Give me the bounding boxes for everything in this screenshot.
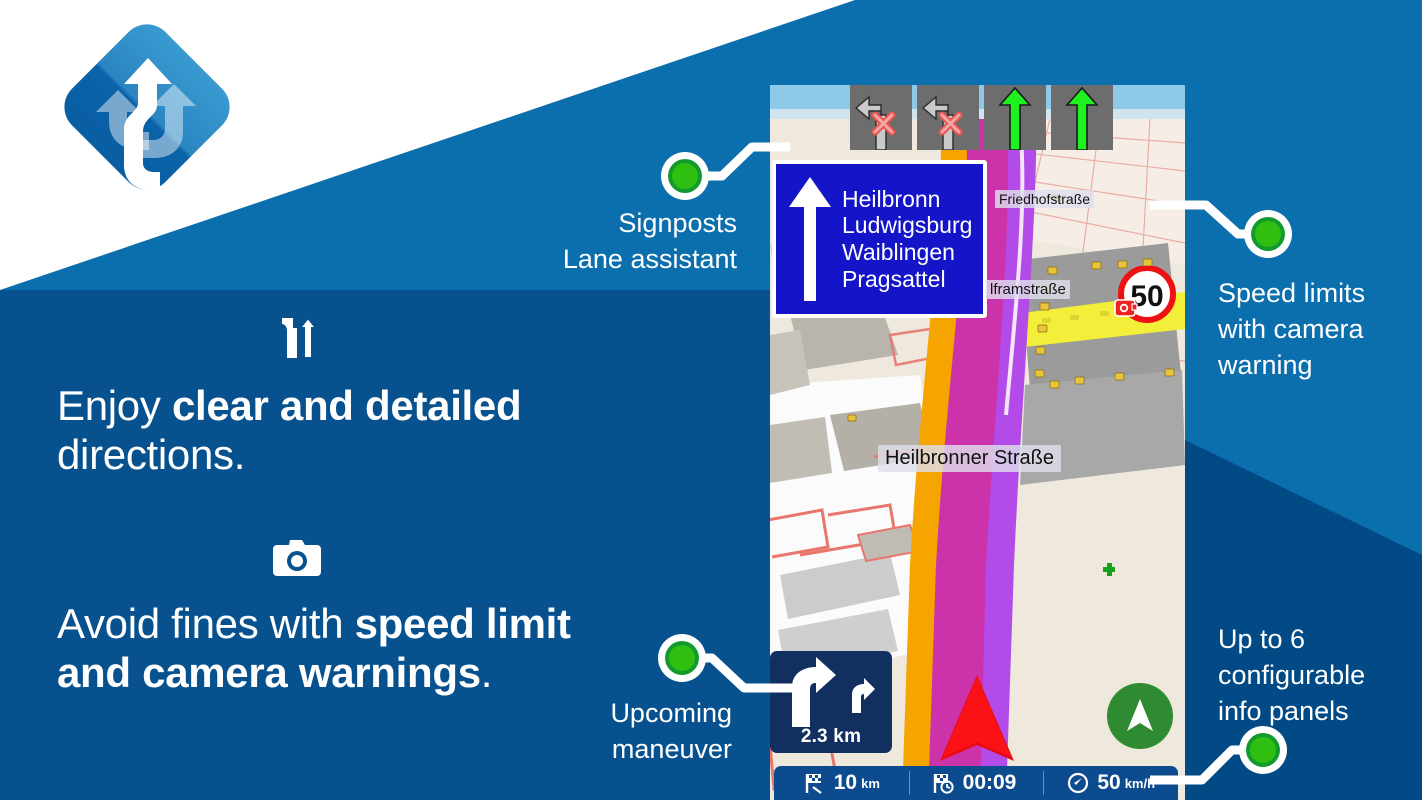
signpost-destination-0: Heilbronn: [842, 186, 975, 213]
callout-panels-line2: configurable: [1218, 658, 1413, 694]
info-remaining-distance-unit: km: [861, 776, 880, 791]
feature-directions-line1-bold: clear and detailed: [172, 382, 521, 429]
lane-4-straight: [1051, 85, 1113, 150]
callout-signposts: Signposts Lane assistant: [437, 206, 737, 278]
info-panel-bar[interactable]: 10 km 00:09 50 km/h: [774, 766, 1178, 800]
callout-signposts-line2: Lane assistant: [437, 242, 737, 278]
info-remaining-distance-value: 10: [834, 771, 857, 795]
callout-maneuver-line1: Upcoming: [532, 696, 732, 732]
callout-maneuver-line2: maneuver: [532, 732, 732, 768]
compass-button[interactable]: [1107, 683, 1173, 749]
callout-speed-limits: Speed limits with camera warning: [1218, 276, 1418, 384]
arrow-left-crossed-icon: [917, 85, 979, 150]
map-label-wlframstrasse: lframstraße: [986, 280, 1070, 299]
feature-directions-line2: directions.: [57, 431, 245, 478]
arrow-up-green-icon: [984, 85, 1046, 150]
callout-panels-line3: info panels: [1218, 694, 1413, 730]
feature-text-directions: Enjoy clear and detailed directions.: [57, 381, 677, 479]
info-panel-remaining-distance[interactable]: 10 km: [774, 766, 909, 800]
turn-right-small-icon: [852, 678, 875, 713]
signpost-destination-1: Ludwigsburg: [842, 212, 975, 239]
app-logo: [58, 18, 236, 196]
turn-right-slight-icon: [792, 657, 836, 727]
feature-block-camera: Avoid fines with speed limit and camera …: [57, 536, 697, 697]
lane-1-left-turn-forbidden: [850, 85, 912, 150]
phone-screen: Heilbronn Ludwigsburg Waiblingen Pragsat…: [770, 85, 1185, 800]
info-current-speed-value: 50: [1097, 771, 1120, 795]
lane-assistant-strip: [850, 85, 1113, 150]
maneuver-icons: [770, 651, 892, 731]
camera-icon: [273, 536, 697, 585]
map-label-friedhofstrasse: Friedhofstraße: [995, 190, 1094, 208]
feature-camera-line2-bold: and camera warnings: [57, 649, 481, 696]
info-current-speed-unit: km/h: [1125, 776, 1155, 791]
upcoming-maneuver-panel[interactable]: 2.3 km: [770, 651, 892, 753]
signpost-panel: Heilbronn Ludwigsburg Waiblingen Pragsat…: [772, 160, 987, 318]
flag-distance-icon: [803, 771, 827, 795]
flag-clock-icon: [932, 771, 956, 795]
lane-assistant-icon: [275, 314, 677, 367]
compass-north-arrow-icon: [1107, 683, 1173, 749]
callout-speed-line2: with camera: [1218, 312, 1418, 348]
arrow-up-icon: [782, 171, 838, 308]
arrow-up-green-icon: [1051, 85, 1113, 150]
callout-signposts-line1: Signposts: [437, 206, 737, 242]
lane-2-left-turn-forbidden: [917, 85, 979, 150]
callout-speed-line1: Speed limits: [1218, 276, 1418, 312]
info-remaining-time-value: 00:09: [963, 771, 1017, 795]
feature-camera-line1-plain: Avoid fines with: [57, 600, 355, 647]
speedometer-icon: [1066, 771, 1090, 795]
feature-camera-line2-plain: .: [481, 649, 492, 696]
feature-camera-line1-bold: speed limit: [355, 600, 571, 647]
speed-camera-icon: [1115, 300, 1137, 316]
feature-text-camera: Avoid fines with speed limit and camera …: [57, 599, 697, 697]
feature-directions-line1-plain: Enjoy: [57, 382, 172, 429]
signpost-destination-list: Heilbronn Ludwigsburg Waiblingen Pragsat…: [838, 186, 975, 293]
signpost-destination-3: Pragsattel: [842, 266, 975, 293]
info-panel-remaining-time[interactable]: 00:09: [909, 766, 1044, 800]
speed-limit-sign: 50: [1113, 266, 1177, 330]
callout-info-panels: Up to 6 configurable info panels: [1218, 622, 1413, 730]
callout-maneuver: Upcoming maneuver: [532, 696, 732, 768]
maneuver-distance: 2.3 km: [770, 726, 892, 748]
signpost-destination-2: Waiblingen: [842, 239, 975, 266]
map-label-heilbronner-strasse: Heilbronner Straße: [878, 445, 1061, 472]
arrow-left-crossed-icon: [850, 85, 912, 150]
callout-panels-line1: Up to 6: [1218, 622, 1413, 658]
mapfactor-logo-icon: [58, 18, 236, 196]
info-panel-current-speed[interactable]: 50 km/h: [1043, 766, 1178, 800]
callout-speed-line3: warning: [1218, 348, 1418, 384]
lane-3-straight: [984, 85, 1046, 150]
feature-block-directions: Enjoy clear and detailed directions.: [57, 314, 677, 479]
